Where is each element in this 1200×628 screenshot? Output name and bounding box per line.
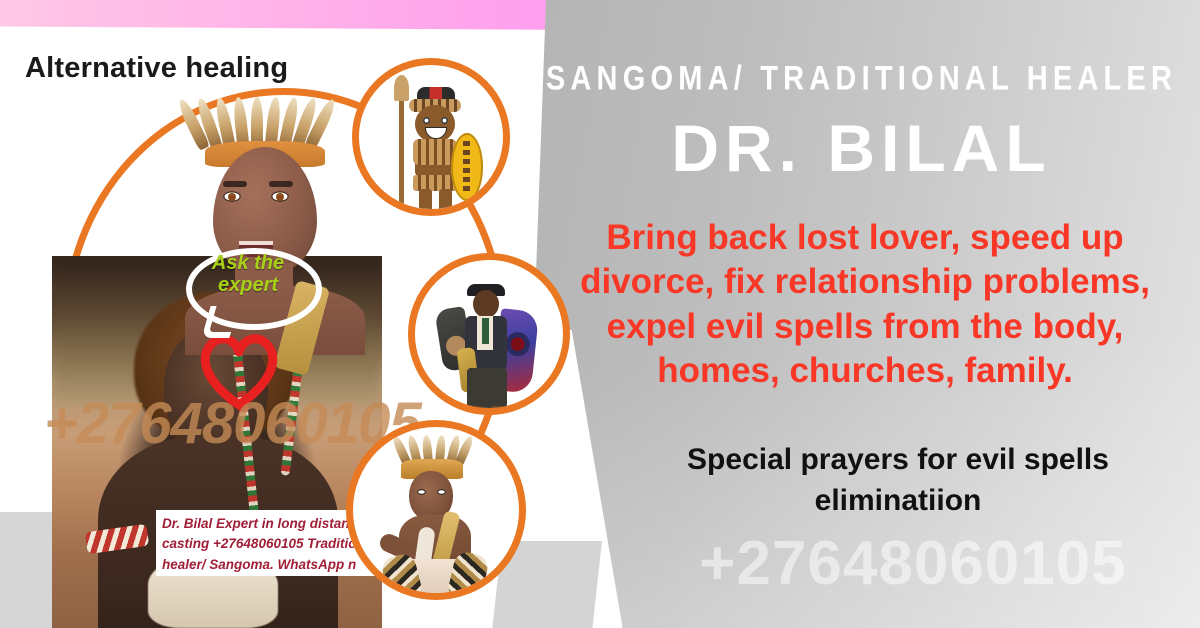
main-figure-brow-left — [223, 181, 247, 187]
circle-zulu-warrior — [352, 58, 510, 216]
main-figure-eye-right — [271, 191, 289, 202]
alternative-healing-label: Alternative healing — [25, 52, 288, 85]
warrior-shield — [451, 133, 483, 201]
warrior-eye-left — [423, 117, 430, 124]
crouching-healer-eye-left — [417, 489, 426, 495]
diviner-tie — [482, 318, 489, 344]
services-text: Bring back lost lover, speed up divorce,… — [545, 216, 1185, 394]
caption-line-2: casting +27648060105 Traditio — [162, 534, 382, 554]
warrior-leg-left — [419, 189, 432, 211]
right-text-column: SANGOMA/ TRADITIONAL HEALER DR. BILAL Br… — [523, 0, 1200, 628]
phone-watermark: +27648060105 — [633, 528, 1193, 599]
warrior-eye-right — [441, 117, 448, 124]
kicker-text: SANGOMA/ TRADITIONAL HEALER — [523, 60, 1200, 99]
bottom-left-gray-strip — [0, 512, 53, 628]
warrior-spear-tip — [394, 75, 409, 101]
main-figure-eye-left — [223, 191, 241, 202]
circle-robed-diviner — [408, 253, 570, 415]
poster-canvas: Alternative healing +27648060105 Ask the… — [0, 0, 1200, 628]
circle-crouching-healer — [346, 420, 526, 600]
main-figure-brow-right — [269, 181, 293, 187]
warrior-leg-right — [439, 189, 452, 211]
caption-line-3: healer/ Sangoma. WhatsApp n — [162, 555, 382, 575]
special-prayers-text: Special prayers for evil spells eliminat… — [618, 440, 1178, 521]
speech-bubble-text: Ask the expert — [186, 252, 310, 297]
top-pink-accent-bar — [0, 0, 602, 30]
headline-name: DR. BILAL — [523, 110, 1200, 186]
crouching-healer-eye-right — [437, 489, 446, 495]
diviner-head — [473, 290, 499, 318]
diviner-legs — [467, 368, 507, 410]
